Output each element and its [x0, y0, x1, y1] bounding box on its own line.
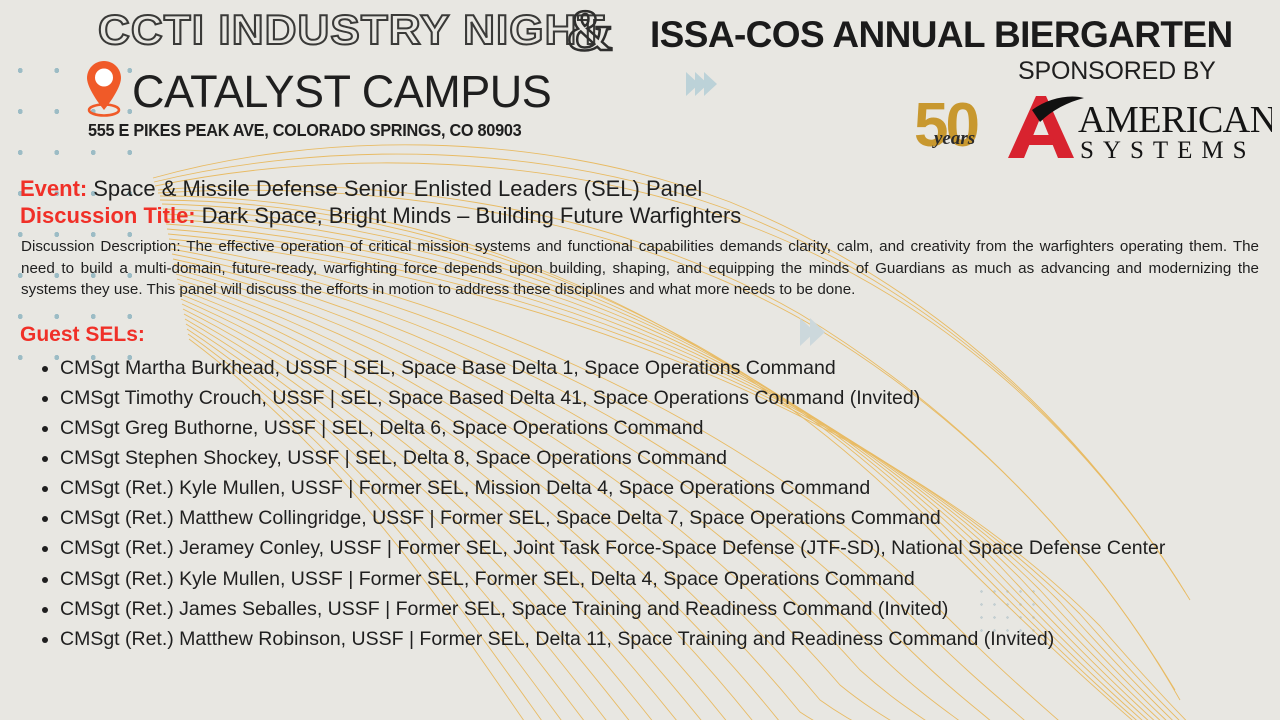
list-item: CMSgt Stephen Shockey, USSF | SEL, Delta… [60, 443, 1250, 473]
flyer-body: Event: Space & Missile Defense Senior En… [0, 176, 1280, 654]
list-item: CMSgt (Ret.) Matthew Collingridge, USSF … [60, 503, 1250, 533]
guest-sels-list: CMSgt Martha Burkhead, USSF | SEL, Space… [0, 353, 1280, 654]
ccti-industry-night-title: CCTI INDUSTRY NIGHT [98, 6, 606, 54]
venue-name: CATALYST CAMPUS [132, 66, 551, 118]
discussion-title-row: Discussion Title: Dark Space, Bright Min… [0, 203, 1280, 229]
list-item: CMSgt Timothy Crouch, USSF | SEL, Space … [60, 383, 1250, 413]
list-item: CMSgt (Ret.) Kyle Mullen, USSF | Former … [60, 564, 1250, 594]
svg-text:SYSTEMS: SYSTEMS [1080, 137, 1256, 164]
american-systems-sponsor-logo: 50 years AMERICAN SYSTEMS [912, 88, 1272, 164]
list-item: CMSgt (Ret.) Matthew Robinson, USSF | Fo… [60, 624, 1250, 654]
venue-address: 555 E PIKES PEAK AVE, COLORADO SPRINGS, … [88, 120, 521, 141]
discussion-description: Discussion Description: The effective op… [0, 236, 1280, 301]
list-item: CMSgt Martha Burkhead, USSF | SEL, Space… [60, 353, 1250, 383]
issa-cos-biergarten-title: ISSA-COS ANNUAL BIERGARTEN [650, 14, 1233, 56]
location-pin-icon [84, 60, 124, 118]
list-item: CMSgt (Ret.) Jeramey Conley, USSF | Form… [60, 533, 1250, 563]
discussion-title-label: Discussion Title: [20, 203, 196, 229]
event-label: Event: [20, 176, 87, 202]
flyer-header: CCTI INDUSTRY NIGHT & ISSA-COS ANNUAL BI… [0, 0, 1280, 172]
discussion-title-value: Dark Space, Bright Minds – Building Futu… [202, 203, 742, 229]
list-item: CMSgt (Ret.) Kyle Mullen, USSF | Former … [60, 473, 1250, 503]
svg-text:50: 50 [914, 91, 977, 160]
list-item: CMSgt Greg Buthorne, USSF | SEL, Delta 6… [60, 413, 1250, 443]
event-flyer: CCTI INDUSTRY NIGHT & ISSA-COS ANNUAL BI… [0, 0, 1280, 720]
list-item: CMSgt (Ret.) James Seballes, USSF | Form… [60, 594, 1250, 624]
event-row: Event: Space & Missile Defense Senior En… [0, 176, 1280, 202]
event-value: Space & Missile Defense Senior Enlisted … [93, 176, 702, 202]
ampersand-symbol: & [566, 2, 614, 60]
sponsored-by-label: SPONSORED BY [1018, 57, 1216, 86]
svg-text:AMERICAN: AMERICAN [1078, 99, 1272, 141]
svg-text:years: years [932, 128, 975, 149]
guest-sels-heading: Guest SELs: [0, 323, 1280, 347]
